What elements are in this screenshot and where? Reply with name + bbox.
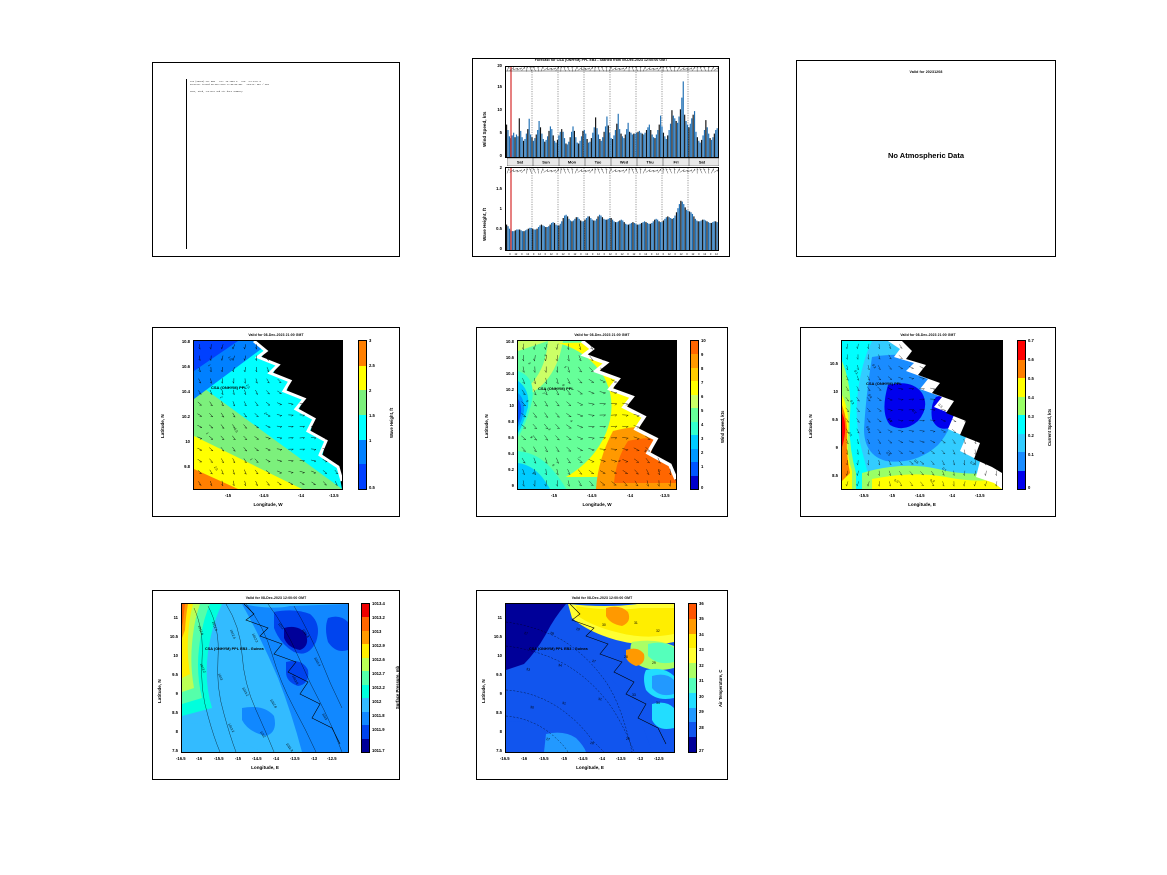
- svg-text:28: 28: [624, 655, 628, 659]
- svg-text:12: 12: [621, 252, 624, 256]
- wind-map-ytick-6: 9.6: [492, 435, 514, 440]
- wind-cbar-tick-4: 6: [701, 394, 703, 399]
- wave-map-site-tag: CSA (ONHYM) PPL: [211, 385, 247, 390]
- wind-map-ytick-1: 10.6: [492, 355, 514, 360]
- pressure-map-axes: 1012.81012.61012.41012.210121011.8101310…: [181, 603, 349, 753]
- svg-text:Tue: Tue: [595, 160, 603, 165]
- wind-cbar-tick-2: 8: [701, 366, 703, 371]
- svg-text:29: 29: [626, 737, 630, 741]
- temp-map-ytick-4: 9: [481, 691, 502, 696]
- svg-text:29: 29: [576, 627, 580, 632]
- atmos-title: Valid for 20231208: [797, 70, 1055, 74]
- metadata-line-3: Wave, wind, current and air data summary: [190, 90, 243, 93]
- temp-map-axes: 27282930313233342728293031323334272829: [505, 603, 675, 753]
- pressure-map-ytick-5: 8.5: [157, 710, 178, 715]
- svg-text:0: 0: [521, 252, 523, 256]
- temp-cbar-tick-3: 33: [699, 647, 704, 652]
- temp-cbar-tick-7: 29: [699, 709, 704, 714]
- pressure-map-site-tag: CSA (ONHYM) PPL EB3 - Guinea: [205, 647, 264, 651]
- wave-map-ytick-0: 10.8: [168, 339, 190, 344]
- svg-text:12: 12: [573, 252, 576, 256]
- current-map-xlabel: Longitude, E: [841, 502, 1003, 507]
- temp-cbar-tick-9: 27: [699, 748, 704, 753]
- current-map-ytick-4: 8.5: [814, 473, 838, 478]
- wave-map-field: 11.522.511.522.51: [194, 341, 342, 489]
- pressure-map-ytick-7: 7.5: [157, 748, 178, 753]
- temp-map-ytick-2: 10: [481, 653, 502, 658]
- current-map-ytick-2: 9.5: [814, 417, 838, 422]
- surface-pressure-map-panel: Valid for 08-Dec-2023 12:00:00 GMT: [152, 590, 400, 780]
- pressure-cbar-tick-8: 1011.8: [372, 713, 385, 718]
- svg-text:12: 12: [668, 252, 671, 256]
- pressure-map-ytick-6: 8: [157, 729, 178, 734]
- ws-ytick-20: 20: [487, 63, 502, 68]
- pressure-cbar-tick-0: 1013.4: [372, 601, 385, 606]
- wind-map-ylabel: Latitude, N: [484, 414, 489, 438]
- wind-speed-plot: [506, 67, 718, 157]
- wind-cbar-tick-0: 10: [701, 338, 706, 343]
- svg-text:12: 12: [585, 252, 588, 256]
- pressure-map-field: 1012.81012.61012.41012.210121011.8101310…: [182, 604, 348, 752]
- svg-text:32: 32: [656, 629, 660, 633]
- wind-map-ytick-0: 10.8: [492, 339, 514, 344]
- wh-ytick-05: 0.5: [485, 226, 502, 231]
- svg-text:Sat: Sat: [517, 160, 524, 165]
- wh-ytick-15: 1.5: [485, 186, 502, 191]
- temp-cbar-tick-0: 36: [699, 601, 704, 606]
- current-map-ylabel: Latitude, N: [808, 414, 813, 438]
- wave-map-ytick-2: 10.4: [168, 389, 190, 394]
- svg-text:0: 0: [674, 252, 676, 256]
- temp-map-colorbar: [688, 603, 697, 753]
- wave-cbar-tick-2: 2: [369, 388, 371, 393]
- svg-text:32: 32: [598, 697, 602, 701]
- wind-map-ytick-8: 9.2: [492, 467, 514, 472]
- wave-map-ytick-1: 10.6: [168, 364, 190, 369]
- svg-text:31: 31: [634, 621, 638, 625]
- svg-text:33: 33: [632, 693, 636, 697]
- current-cbar-tick-5: 0.2: [1028, 433, 1034, 438]
- pressure-cbar-tick-4: 1012.6: [372, 657, 385, 662]
- ws-ytick-0: 0: [487, 153, 502, 158]
- temp-map-xtick-0: -16.5: [500, 756, 510, 761]
- wind-map-ytick-2: 10.4: [492, 371, 514, 376]
- pressure-cbar-tick-7: 1012: [372, 699, 381, 704]
- svg-text:Thu: Thu: [646, 160, 654, 165]
- pressure-map-ytick-1: 10.5: [157, 634, 178, 639]
- svg-text:12: 12: [550, 252, 553, 256]
- temp-cbar-label: Air Temperature, C: [718, 670, 723, 707]
- wind-map-xtick-2: -14: [627, 493, 633, 498]
- wind-map-xtick-3: -13.5: [660, 493, 670, 498]
- wave-height-plot: [506, 168, 718, 250]
- svg-text:27: 27: [546, 737, 550, 742]
- pressure-map-xtick-4: -14.5: [252, 756, 262, 761]
- temp-map-xtick-5: -14: [599, 756, 605, 761]
- wind-map-ytick-3: 10.2: [492, 387, 514, 392]
- svg-text:12: 12: [632, 252, 635, 256]
- wind-map-field: 34567893456789345: [518, 341, 676, 489]
- wave-cbar-tick-0: 3: [369, 338, 371, 343]
- current-cbar-tick-1: 0.6: [1028, 357, 1034, 362]
- wind-cbar-tick-5: 5: [701, 408, 703, 413]
- wave-map-title: Valid for 08-Dec-2023 21:00 GMT: [153, 333, 399, 337]
- pressure-map-xtick-8: -12.5: [327, 756, 337, 761]
- temp-map-ytick-3: 9.5: [481, 672, 502, 677]
- svg-text:31: 31: [562, 701, 566, 706]
- current-cbar-tick-0: 0.7: [1028, 338, 1034, 343]
- temp-map-xlabel: Longitude, E: [505, 765, 675, 770]
- svg-text:0: 0: [651, 252, 653, 256]
- wind-map-title: Valid for 08-Dec-2023 21:00 GMT: [477, 333, 727, 337]
- svg-text:0: 0: [710, 252, 712, 256]
- svg-text:27: 27: [592, 659, 596, 663]
- wave-cbar-label: Wave Height, ft: [389, 408, 394, 438]
- wave-map-xtick-1: -14.5: [259, 493, 269, 498]
- wave-cbar-tick-1: 2.5: [369, 363, 375, 368]
- wave-height-map-panel: Valid for 08-Dec-2023 21:00 GMT 11.522.5…: [152, 327, 400, 517]
- temp-map-xtick-4: -14.5: [578, 756, 588, 761]
- current-map-ytick-3: 9: [814, 445, 838, 450]
- wind-cbar-tick-6: 4: [701, 422, 703, 427]
- pressure-map-xtick-1: -16: [196, 756, 202, 761]
- current-map-xtick-0: -15.5: [859, 493, 869, 498]
- wave-cbar-tick-3: 1.5: [369, 413, 375, 418]
- pressure-map-ytick-4: 9: [157, 691, 178, 696]
- pressure-map-colorbar: [361, 603, 370, 753]
- pressure-cbar-label: Surface Pressure, mb: [395, 666, 400, 709]
- wave-map-xtick-0: -15: [225, 493, 231, 498]
- pressure-map-xtick-5: -14: [273, 756, 279, 761]
- pressure-map-ytick-2: 10: [157, 653, 178, 658]
- pressure-cbar-tick-1: 1013.2: [372, 615, 385, 620]
- temp-map-ytick-0: 11: [481, 615, 502, 620]
- temp-map-xtick-3: -15: [561, 756, 567, 761]
- svg-text:12: 12: [715, 252, 718, 256]
- pressure-map-xtick-2: -15.5: [214, 756, 224, 761]
- wind-cbar-label: Wind Speed, kts: [720, 411, 725, 443]
- wave-map-xtick-3: -13.5: [329, 493, 339, 498]
- svg-text:12: 12: [597, 252, 600, 256]
- svg-text:0: 0: [556, 252, 558, 256]
- svg-text:29: 29: [652, 661, 656, 665]
- wind-map-ytick-9: 9: [492, 483, 514, 488]
- wind-map-xtick-0: -15: [551, 493, 557, 498]
- wave-map-axes: 11.522.511.522.51: [193, 340, 343, 490]
- temp-cbar-tick-2: 34: [699, 632, 704, 637]
- svg-text:Sun: Sun: [542, 160, 550, 165]
- current-cbar-tick-3: 0.4: [1028, 395, 1034, 400]
- temp-map-ytick-7: 7.5: [481, 748, 502, 753]
- svg-text:30: 30: [602, 623, 606, 627]
- svg-text:0: 0: [615, 252, 617, 256]
- wave-height-axes: [505, 167, 719, 251]
- current-cbar-label: Current Speed, kts: [1047, 409, 1052, 446]
- wave-map-ytick-3: 10.2: [168, 414, 190, 419]
- pressure-cbar-tick-2: 1013: [372, 629, 381, 634]
- temp-cbar-tick-8: 28: [699, 725, 704, 730]
- atmospheric-data-panel: Valid for 20231208 No Atmospheric Data: [796, 60, 1056, 257]
- svg-text:0: 0: [698, 252, 700, 256]
- current-map-axes: 0.10.20.30.40.50.60.10.20.30.40.50.60.10…: [841, 340, 1003, 490]
- air-temperature-map-panel: Valid for 08-Dec-2023 12:00:00 GMT: [476, 590, 728, 780]
- no-atmospheric-data-message: No Atmospheric Data: [797, 151, 1055, 160]
- wind-cbar-tick-10: 0: [701, 485, 703, 490]
- wind-map-axes: 34567893456789345: [517, 340, 677, 490]
- timeseries-panel: Forecast for CSA (ONHYM) PPL EB3 - Start…: [472, 58, 730, 257]
- wind-cbar-tick-1: 9: [701, 352, 703, 357]
- svg-text:12: 12: [680, 252, 683, 256]
- svg-text:28: 28: [590, 741, 594, 745]
- pressure-map-ytick-0: 11: [157, 615, 178, 620]
- svg-text:0: 0: [568, 252, 570, 256]
- svg-text:0: 0: [686, 252, 688, 256]
- ws-ytick-5: 5: [487, 130, 502, 135]
- wh-ytick-2: 2: [485, 165, 502, 170]
- svg-text:0: 0: [639, 252, 641, 256]
- pressure-map-xlabel: Longitude, E: [181, 765, 349, 770]
- temp-map-xtick-7: -13: [637, 756, 643, 761]
- wave-map-ylabel: Latitude, N: [160, 414, 165, 438]
- wave-height-ylabel: Wave Height, ft: [482, 208, 487, 241]
- svg-text:0: 0: [663, 252, 665, 256]
- wind-cbar-tick-8: 2: [701, 450, 703, 455]
- temp-map-xtick-6: -13.5: [616, 756, 626, 761]
- wind-map-ytick-7: 9.4: [492, 451, 514, 456]
- svg-text:12: 12: [691, 252, 694, 256]
- pressure-map-xtick-6: -13.5: [290, 756, 300, 761]
- temp-map-xtick-2: -15.5: [539, 756, 549, 761]
- wind-map-xlabel: Longitude, W: [517, 502, 677, 507]
- pressure-map-xtick-3: -15: [235, 756, 241, 761]
- wave-cbar-tick-4: 1: [369, 438, 371, 443]
- pressure-cbar-tick-3: 1012.9: [372, 643, 385, 648]
- pressure-map-xtick-0: -16.5: [176, 756, 186, 761]
- hour-tick-strip: 0120120120120120120120120120120120120120…: [507, 251, 719, 257]
- temp-map-xtick-8: -12.5: [654, 756, 664, 761]
- ws-ytick-10: 10: [487, 107, 502, 112]
- day-label-strip: SatSunMonTueWedThuFriSat: [507, 158, 719, 166]
- current-map-xtick-4: -13.5: [975, 493, 985, 498]
- current-cbar-tick-7: 0: [1028, 485, 1030, 490]
- svg-text:0: 0: [533, 252, 535, 256]
- svg-text:34: 34: [656, 701, 660, 705]
- wind-map-site-tag: CSA (ONHYM) PPL: [538, 386, 574, 391]
- svg-text:0: 0: [627, 252, 629, 256]
- wind-cbar-tick-7: 3: [701, 436, 703, 441]
- temp-cbar-tick-5: 31: [699, 678, 704, 683]
- wh-ytick-0: 0: [485, 246, 502, 251]
- metadata-vertical-rule: [186, 79, 187, 249]
- current-map-ytick-1: 10: [814, 389, 838, 394]
- temp-map-field: 27282930313233342728293031323334272829: [506, 604, 674, 752]
- svg-text:Mon: Mon: [568, 160, 577, 165]
- wave-map-xtick-2: -14: [298, 493, 304, 498]
- temp-map-ytick-6: 8: [481, 729, 502, 734]
- current-map-title: Valid for 08-Dec-2023 21:00 GMT: [801, 333, 1055, 337]
- wave-map-ytick-5: 9.8: [168, 464, 190, 469]
- metadata-line-2: Forecast issued 09-Dec-2023 12:00:00 GMT…: [190, 83, 269, 86]
- current-map-site-tag: CSA (ONHYM) PPL: [866, 381, 902, 386]
- wind-cbar-tick-3: 7: [701, 380, 703, 385]
- pressure-cbar-tick-9: 1011.9: [372, 727, 385, 732]
- wind-map-ytick-5: 9.8: [492, 419, 514, 424]
- svg-text:Fri: Fri: [673, 160, 678, 165]
- pressure-cbar-tick-6: 1012.2: [372, 685, 385, 690]
- wave-cbar-tick-5: 0.5: [369, 485, 375, 490]
- pressure-map-title: Valid for 08-Dec-2023 12:00:00 GMT: [153, 596, 399, 600]
- temp-cbar-tick-1: 35: [699, 616, 704, 621]
- svg-text:12: 12: [526, 252, 529, 256]
- temp-cbar-tick-4: 32: [699, 663, 704, 668]
- pressure-cbar-tick-5: 1012.7: [372, 671, 385, 676]
- current-speed-map-panel: Valid for 08-Dec-2023 21:00 GMT 0.10.20.…: [800, 327, 1056, 517]
- pressure-map-ytick-3: 9.5: [157, 672, 178, 677]
- temp-cbar-tick-6: 30: [699, 694, 704, 699]
- wind-map-ytick-4: 10: [492, 403, 514, 408]
- svg-text:12: 12: [514, 252, 517, 256]
- svg-text:12: 12: [609, 252, 612, 256]
- svg-text:12: 12: [562, 252, 565, 256]
- temp-map-ytick-5: 8.5: [481, 710, 502, 715]
- wind-map-xtick-1: -14.5: [587, 493, 597, 498]
- wh-ytick-1: 1: [485, 206, 502, 211]
- metadata-text-panel: CSA (ONHYM) PPL EB3 Lat: 10.1683 N Lon: …: [152, 62, 400, 257]
- wave-map-colorbar: [358, 340, 367, 490]
- pressure-map-xtick-7: -13: [311, 756, 317, 761]
- svg-text:0: 0: [509, 252, 511, 256]
- svg-text:0: 0: [592, 252, 594, 256]
- temp-map-xtick-1: -16: [521, 756, 527, 761]
- svg-text:12: 12: [703, 252, 706, 256]
- svg-text:Wed: Wed: [620, 160, 629, 165]
- svg-text:12: 12: [644, 252, 647, 256]
- current-cbar-tick-6: 0.1: [1028, 452, 1034, 457]
- current-cbar-tick-4: 0.3: [1028, 414, 1034, 419]
- current-map-ytick-0: 10.5: [814, 361, 838, 366]
- current-map-xtick-3: -14: [949, 493, 955, 498]
- pressure-cbar-tick-10: 1011.7: [372, 748, 385, 753]
- ws-ytick-15: 15: [487, 84, 502, 89]
- wind-cbar-tick-9: 1: [701, 464, 703, 469]
- wind-speed-map-panel: Valid for 08-Dec-2023 21:00 GMT 34567893…: [476, 327, 728, 517]
- current-cbar-tick-2: 0.5: [1028, 376, 1034, 381]
- svg-text:12: 12: [538, 252, 541, 256]
- wind-map-colorbar: [690, 340, 699, 490]
- svg-text:0: 0: [545, 252, 547, 256]
- current-map-colorbar: [1017, 340, 1026, 490]
- wind-speed-axes: [505, 66, 719, 158]
- current-map-xtick-2: -14.5: [915, 493, 925, 498]
- wave-map-xlabel: Longitude, W: [193, 502, 343, 507]
- current-map-field: 0.10.20.30.40.50.60.10.20.30.40.50.60.10…: [842, 341, 1002, 489]
- temp-map-title: Valid for 08-Dec-2023 12:00:00 GMT: [477, 596, 727, 600]
- svg-text:12: 12: [656, 252, 659, 256]
- svg-text:0: 0: [580, 252, 582, 256]
- svg-text:0: 0: [604, 252, 606, 256]
- current-map-xtick-1: -15: [889, 493, 895, 498]
- temp-map-site-tag: CSA (ONHYM) PPL EB3 - Guinea: [529, 647, 588, 651]
- svg-text:Sat: Sat: [699, 160, 706, 165]
- temp-map-ytick-1: 10.5: [481, 634, 502, 639]
- wave-map-ytick-4: 10: [168, 439, 190, 444]
- timeseries-title: Forecast for CSA (ONHYM) PPL EB3 - Start…: [473, 58, 729, 62]
